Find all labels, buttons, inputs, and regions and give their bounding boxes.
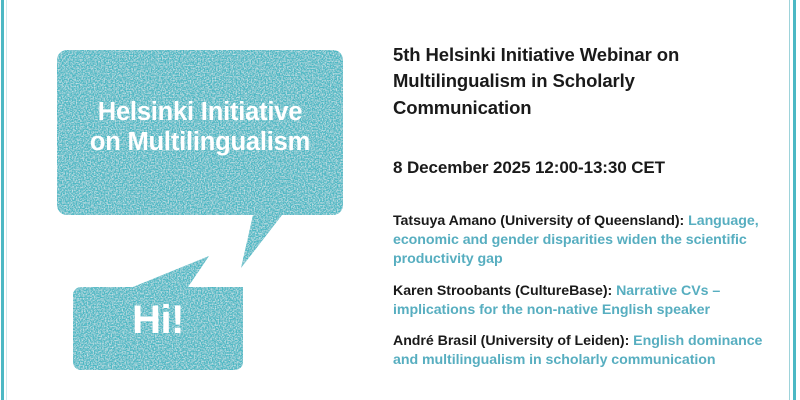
right-inner-edge-rule — [789, 0, 790, 400]
speech-bubbles-graphic — [0, 0, 380, 400]
talk-speaker: André Brasil (University of Leiden): — [393, 333, 633, 349]
helsinki-initiative-logo: Helsinki Initiative on Multilingualism H… — [0, 0, 380, 400]
talk-item: André Brasil (University of Leiden): Eng… — [393, 332, 771, 370]
webinar-date-time: 8 December 2025 12:00-13:30 CET — [393, 157, 768, 179]
talk-item: Karen Stroobants (CultureBase): Narrativ… — [393, 282, 771, 320]
webinar-poster: Helsinki Initiative on Multilingualism H… — [0, 0, 800, 400]
logo-hi-text: Hi! — [73, 300, 243, 340]
logo-bubble-text: Helsinki Initiative on Multilingualism — [57, 98, 343, 157]
talk-item: Tatsuya Amano (University of Queensland)… — [393, 212, 771, 269]
webinar-headline: 5th Helsinki Initiative Webinar on Multi… — [393, 42, 768, 121]
talks-list: Tatsuya Amano (University of Queensland)… — [393, 212, 771, 370]
talk-speaker: Karen Stroobants (CultureBase): — [393, 283, 616, 299]
announcement-content: 5th Helsinki Initiative Webinar on Multi… — [393, 0, 778, 400]
talk-speaker: Tatsuya Amano (University of Queensland)… — [393, 213, 688, 229]
right-edge-rule — [793, 0, 796, 400]
